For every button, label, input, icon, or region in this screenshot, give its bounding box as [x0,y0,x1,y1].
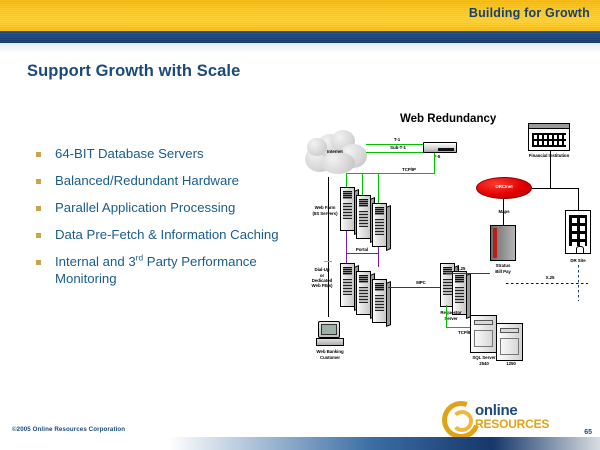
list-item-label: Internal and 3rd Party Performance Monit… [55,253,298,287]
link-portal-bus [346,253,378,254]
link-mpc [388,287,446,288]
link-tcpip-drop-2 [362,173,363,195]
label-requestor-server: Requestor Server [432,310,470,321]
list-item-label-pre: Internal and 3 [55,254,136,269]
link-tcpip-sql-v [446,305,447,327]
list-item-label: Balanced/Redundant Hardware [55,172,239,189]
online-resources-logo: online RESOURCES [442,398,568,432]
list-item: Internal and 3rd Party Performance Monit… [30,253,298,287]
label-sub-t1: Sub-T-1 [378,145,418,151]
header-navy-rule [0,31,600,43]
label-maps: Maps [490,209,518,215]
bullet-square-icon [36,179,41,184]
label-web-banking-customer: Web Banking Customer [304,349,356,360]
web-fe-server-icon [340,263,355,307]
label-f5: F-5 [425,154,449,160]
copyright-text: ©2005 Online Resources Corporation [12,426,125,433]
web-farm-server-icon [356,195,371,239]
label-t1: T-1 [380,137,414,143]
footer-gradient-bar [0,437,600,450]
list-item-label: Data Pre-Fetch & Information Caching [55,226,279,243]
header-fade [0,43,600,53]
link-portal-2 [378,247,379,267]
label-tcpip-top: TCP/IP [392,167,426,173]
page-number: 65 [584,429,592,436]
link-tcpip-bus [346,173,435,174]
logo-word-resources: RESOURCES [475,417,549,431]
label-x25-upper: X.25 [450,266,472,272]
label-internet: Internet [318,149,352,155]
link-tcpip-drop-3 [378,173,379,203]
list-item-label: Parallel Application Processing [55,199,235,216]
label-dialup: Dial-Up or Dedicated [306,267,338,284]
link-portal-1 [346,231,347,267]
label-intranet: ORCInet [476,184,532,190]
label-portal: Portal [348,247,376,253]
bullet-square-icon [36,233,41,238]
customer-pc-icon [316,321,344,347]
web-fe-server-icon [372,279,387,323]
link-intranet-fi-v [550,151,551,188]
requestor-server-icon [452,271,467,315]
link-intranet-dr-h [532,188,578,189]
web-farm-server-icon [372,203,387,247]
header-title: Building for Growth [469,6,590,20]
link-intranet-dr-v [578,188,579,210]
bullet-square-icon [36,260,41,265]
link-dialup [328,177,329,317]
label-financial-institution: Financial Institution [518,153,580,159]
sql-server-icon [470,315,497,353]
link-tcpip-drop-1 [346,173,347,187]
diagram-title: Web Redundancy [400,113,496,125]
list-item-label-sup: rd [136,253,143,263]
dr-site-icon [565,210,591,254]
label-mpc: MPC [410,280,432,286]
link-dr-site-down [578,265,579,301]
list-item: Parallel Application Processing [30,199,298,216]
network-diagram: Web Redundancy Internet T-1 Sub-T-1 F-5 … [300,105,600,390]
web-fe-server-icon [356,271,371,315]
label-web-fe: Web FE(s) [306,283,338,289]
link-x25-lower [506,283,588,284]
logo-inner-ring-icon [451,410,473,432]
label-x25-lower: X.25 [538,275,562,281]
page-title: Support Growth with Scale [27,62,240,81]
label-dr-site: DR Site [558,258,598,264]
link-f5-down [434,153,435,173]
list-item: Data Pre-Fetch & Information Caching [30,226,298,243]
label-sql-server-2: 1250 [496,361,526,367]
web-farm-server-icon [340,187,355,231]
link-dialup-marker [324,261,332,262]
financial-institution-icon [528,123,570,151]
bullet-list: 64-BIT Database Servers Balanced/Redunda… [30,145,298,297]
list-item-label: 64-BIT Database Servers [55,145,204,162]
list-item: Balanced/Redundant Hardware [30,172,298,189]
list-item: 64-BIT Database Servers [30,145,298,162]
bullet-square-icon [36,206,41,211]
bullet-square-icon [36,152,41,157]
stratus-server-icon [490,225,516,261]
label-web-farm: Web Farm (IIS Servers) [308,205,342,216]
f5-appliance-icon [423,142,457,153]
link-x25-upper [446,273,490,274]
